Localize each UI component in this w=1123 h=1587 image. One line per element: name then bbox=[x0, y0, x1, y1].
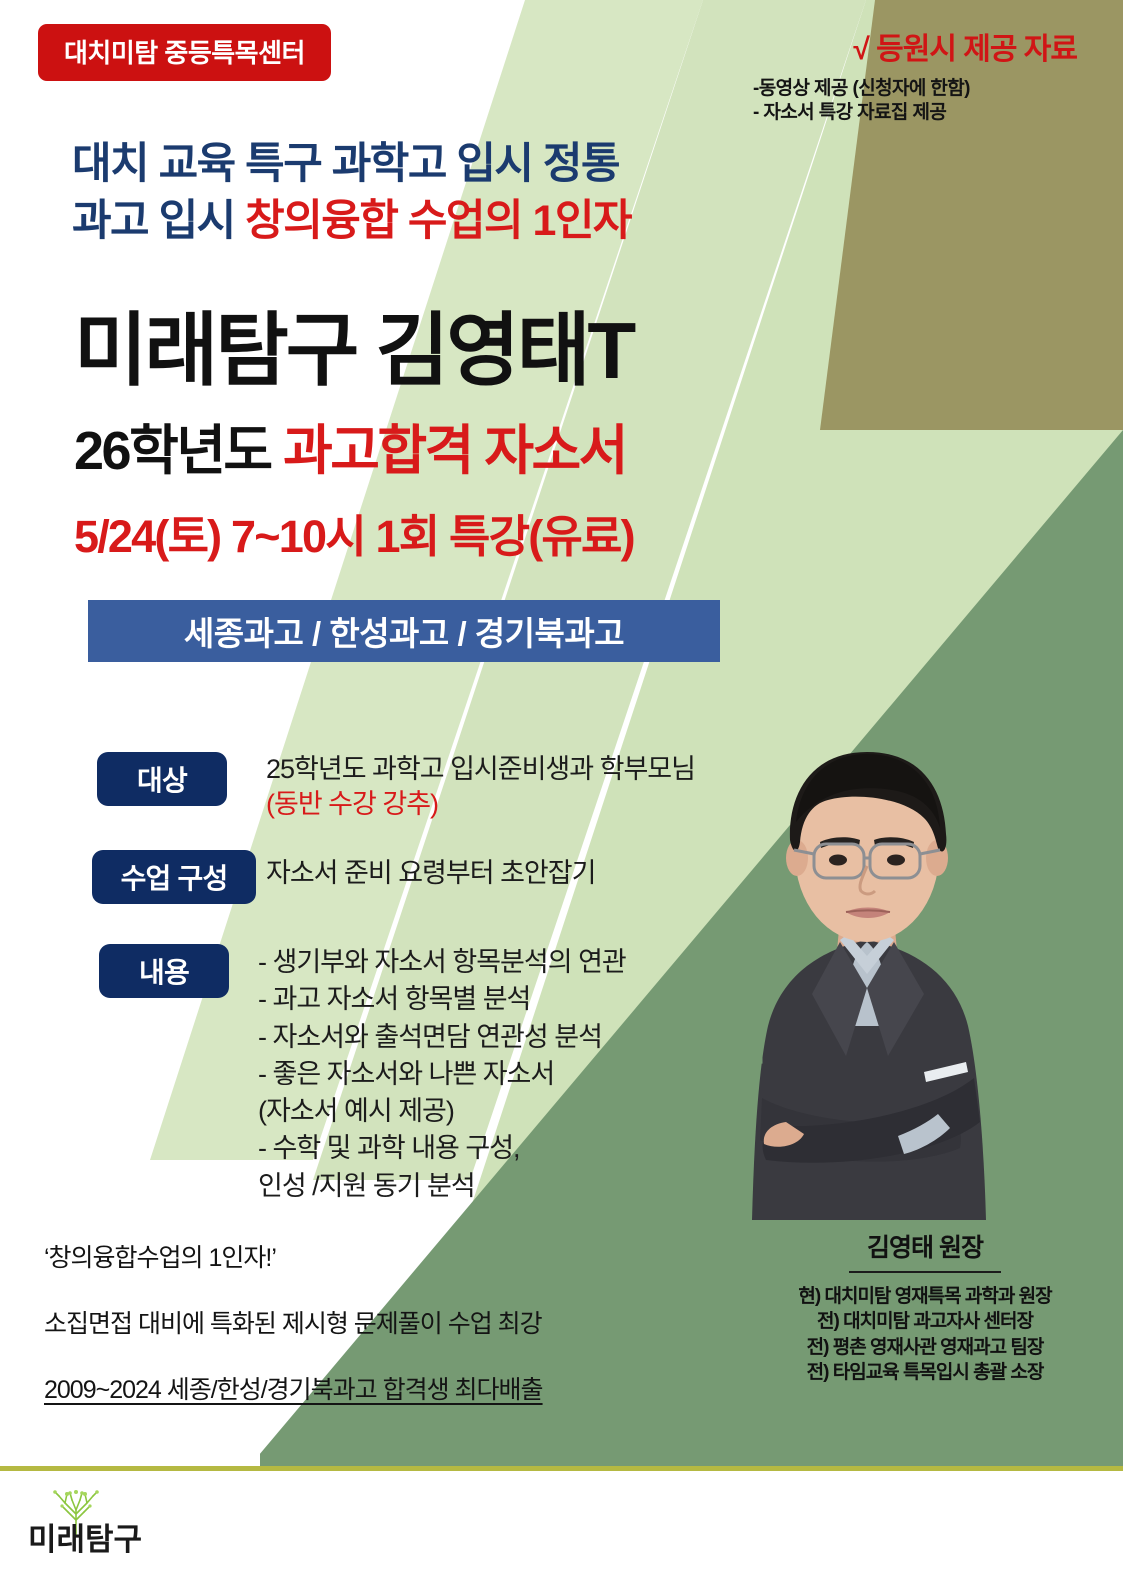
subject-line: 26학년도 과고합격 자소서 bbox=[74, 406, 626, 485]
headline-line-2: 과고 입시 창의융합 수업의 1인자 bbox=[72, 193, 631, 250]
provided-materials-title: √ 등원시 제공 자료 bbox=[747, 24, 1077, 68]
content-item: - 자소서와 출석면담 연관성 분석 bbox=[258, 1019, 626, 1056]
info-target-note: (동반 수강 강추) bbox=[266, 787, 695, 822]
date-time-line: 5/24(토) 7~10시 1회 특강(유료) bbox=[74, 500, 634, 565]
credential-item: 전) 대치미탐 과고자사 센터장 bbox=[745, 1309, 1105, 1334]
credentials-name: 김영태 원장 bbox=[745, 1228, 1105, 1264]
instructor-credentials: 김영태 원장 현) 대치미탐 영재특목 과학과 원장 전) 대치미탐 과고자사 … bbox=[745, 1228, 1105, 1386]
provided-materials-list: -동영상 제공 (신청자에 한함) - 자소서 특강 자료집 제공 bbox=[747, 77, 1077, 126]
label-pill-content: 내용 bbox=[99, 944, 229, 998]
tagline-record: 2009~2024 세종/한성/경기북과고 합격생 최다배출 bbox=[44, 1370, 543, 1406]
credentials-list: 현) 대치미탐 영재특목 과학과 원장 전) 대치미탐 과고자사 센터장 전) … bbox=[745, 1284, 1105, 1386]
target-schools-label: 세종과고 / 한성과고 / 경기북과고 bbox=[184, 607, 624, 655]
instructor-name-title: 미래탐구 김영태T bbox=[74, 286, 633, 402]
subject-prefix: 26학년도 bbox=[74, 421, 283, 481]
target-schools-bar: 세종과고 / 한성과고 / 경기북과고 bbox=[88, 600, 720, 662]
info-text-target: 25학년도 과학고 입시준비생과 학부모님 (동반 수강 강추) bbox=[266, 752, 695, 821]
provided-item: -동영상 제공 (신청자에 한함) bbox=[753, 77, 1077, 101]
content-item: - 과고 자소서 항목별 분석 bbox=[258, 981, 626, 1018]
content-item: - 좋은 자소서와 나쁜 자소서 bbox=[258, 1056, 626, 1093]
content-item: - 생기부와 자소서 항목분석의 연관 bbox=[258, 944, 626, 981]
taglines-block: ‘창의융합수업의 1인자!’ 소집면접 대비에 특화된 제시형 문제풀이 수업 … bbox=[44, 1238, 543, 1436]
content-item: - 수학 및 과학 내용 구성, bbox=[258, 1130, 626, 1167]
poster-root: 대치미탐 중등특목센터 √ 등원시 제공 자료 -동영상 제공 (신청자에 한함… bbox=[0, 0, 1123, 1587]
headline: 대치 교육 특구 과학고 입시 정통 과고 입시 창의융합 수업의 1인자 bbox=[72, 136, 631, 250]
credentials-divider bbox=[849, 1271, 1001, 1273]
credential-item: 전) 평촌 영재사관 영재과고 팀장 bbox=[745, 1335, 1105, 1360]
headline-line-1: 대치 교육 특구 과학고 입시 정통 bbox=[72, 136, 631, 193]
subject-highlight: 과고합격 자소서 bbox=[283, 421, 626, 481]
credential-item: 현) 대치미탐 영재특목 과학과 원장 bbox=[745, 1284, 1105, 1309]
center-badge: 대치미탐 중등특목센터 bbox=[38, 24, 331, 81]
info-target-line1: 25학년도 과학고 입시준비생과 학부모님 bbox=[266, 754, 695, 784]
credential-item: 전) 타임교육 특목입시 총괄 소장 bbox=[745, 1360, 1105, 1385]
label-pill-format: 수업 구성 bbox=[92, 850, 256, 904]
instructor-portrait-illustration bbox=[728, 726, 1006, 1220]
headline-line-2-red: 창의융합 수업의 1인자 bbox=[245, 197, 631, 245]
brand-name: 미래탐구 bbox=[28, 1514, 142, 1559]
brand-logo: 미래탐구 bbox=[26, 1492, 216, 1570]
headline-line-2-navy: 과고 입시 bbox=[72, 197, 245, 245]
poster-content: 대치미탐 중등특목센터 √ 등원시 제공 자료 -동영상 제공 (신청자에 한함… bbox=[0, 0, 1123, 1587]
content-item: (자소서 예시 제공) bbox=[258, 1093, 626, 1130]
provided-materials-block: √ 등원시 제공 자료 -동영상 제공 (신청자에 한함) - 자소서 특강 자… bbox=[747, 24, 1077, 126]
instructor-photo bbox=[728, 726, 1006, 1220]
provided-item: - 자소서 특강 자료집 제공 bbox=[753, 101, 1077, 125]
tagline-slogan: ‘창의융합수업의 1인자!’ bbox=[44, 1238, 543, 1274]
tagline-specialty: 소집면접 대비에 특화된 제시형 문제풀이 수업 최강 bbox=[44, 1304, 543, 1340]
label-pill-target: 대상 bbox=[97, 752, 227, 806]
info-text-format: 자소서 준비 요령부터 초안잡기 bbox=[266, 856, 595, 891]
info-text-content: - 생기부와 자소서 항목분석의 연관 - 과고 자소서 항목별 분석 - 자소… bbox=[258, 944, 626, 1205]
content-item: 인성 /지원 동기 분석 bbox=[258, 1168, 626, 1205]
